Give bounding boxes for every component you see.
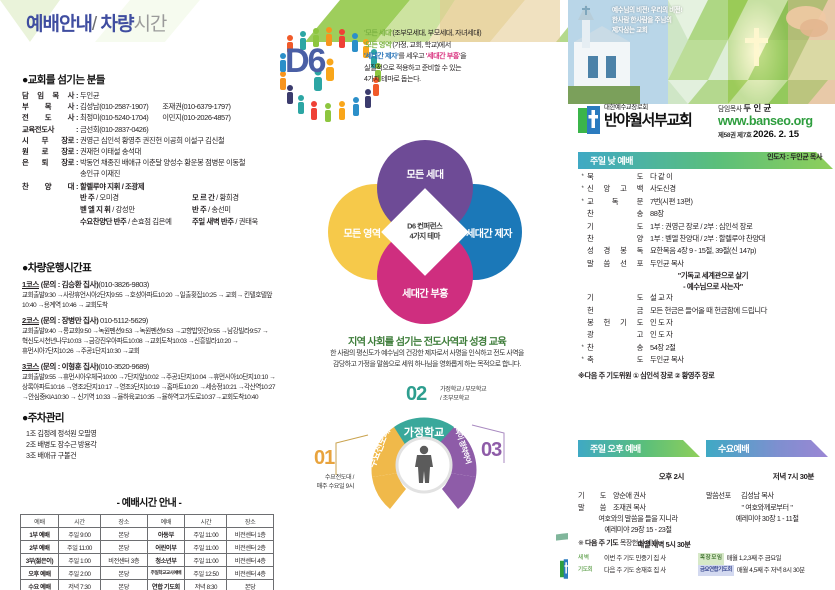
- vision-statement: 예수님의 비전! 우리의 비전! 한사람 한사람을 주님의 제자삼는 교회: [612, 6, 682, 36]
- order-label: 찬 송: [587, 342, 643, 354]
- wednesday-rows: 말씀선포김성남 목사: [706, 490, 828, 502]
- wednesday-title: 수요예배: [718, 442, 749, 455]
- staff-value-secondary: 조재권(010-6379-1797): [162, 101, 230, 112]
- choir-left: 수요찬양단 반주 / 손효점 김은예: [80, 216, 192, 228]
- order-row: 광 고인 도 자: [578, 329, 828, 341]
- table-cell: 연합 기도회: [147, 580, 185, 590]
- order-row: 봉 헌 기 도인 도 자: [578, 317, 828, 329]
- order-label: 교 독 문: [587, 196, 643, 208]
- order-row: *찬 송54장 2절: [578, 342, 828, 354]
- order-mark: [578, 305, 587, 317]
- sunday-afternoon-rows: 기 도양순애 권사말 씀조재권 목사: [578, 490, 698, 513]
- staff-value: 두인균: [80, 90, 277, 101]
- left-column: ●교회를 섬기는 분들 담 임 목 사:두인균부 목 사:김성남(010-258…: [0, 42, 278, 590]
- order-row: 헌 금모든 헌금은 들어올 때 헌금함에 드립니다: [578, 305, 828, 317]
- staff-value: 최정미(010-5240-1704)이민지(010-2026-4857): [80, 112, 277, 123]
- service-value: 김성남 목사: [734, 490, 828, 502]
- bus-block: ●차량운행시간표 1코스 (문의 : 김승환 집사)(010-3826-9803…: [22, 260, 280, 403]
- mid-headline: 지역 사회를 섬기는 전도사역과 성경 교육: [288, 333, 566, 348]
- staff-value: 권재헌 이태설 송석대: [80, 146, 277, 157]
- bus-course-head: 2코스 (문의 : 장병만 집사) 010-5112-5629): [22, 315, 280, 327]
- bus-courses: 1코스 (문의 : 김승환 집사)(010-3826-9803)교회출발9:30…: [22, 279, 280, 403]
- order-row: 성 경 봉 독요한복음 4장 9 - 15절, 39절(신 147p): [578, 245, 828, 257]
- staff-label: 부 목 사: [22, 101, 74, 112]
- issue-line: 제58권 제7호 2026. 2. 15: [718, 129, 835, 140]
- choir-row: 반 주 / 오미경모 르 간 / 황희경: [22, 192, 277, 204]
- sunday-afternoon-time: 오후 2시: [578, 471, 684, 482]
- bus-course-head: 3코스 (문의 : 이형훈 집사)(010-3520-9689): [22, 361, 280, 373]
- pastor-line: 담임목사 두 인 균: [718, 102, 835, 114]
- order-mark: *: [578, 183, 587, 195]
- order-mark: [578, 329, 587, 341]
- order-value: 54장 2절: [643, 342, 828, 354]
- order-label: 신 앙 고 백: [587, 183, 643, 195]
- staff-value: 박동언 채종진 배애규 이춘달 양성수 황운봉 점병문 이동철: [80, 157, 277, 168]
- order-value: 인 도 자: [643, 317, 828, 329]
- table-cell: 저녁 8:30: [185, 580, 227, 590]
- table-cell: 저녁 7:30: [58, 580, 100, 590]
- d6-line-2: '모든 영역'(가정, 교회, 학교)에서: [364, 40, 564, 52]
- meeting-text: 매월 1,2,3째 주 금요일: [727, 554, 782, 564]
- order-value: 모든 헌금은 들어올 때 헌금함에 드립니다: [643, 305, 828, 317]
- choir-left: 벧 엘 지 휘 / 강성만: [80, 204, 192, 216]
- staff-label: 교육전도사: [22, 124, 74, 135]
- order-label: 헌 금: [587, 305, 643, 317]
- parking-heading: ●주차관리: [22, 410, 277, 425]
- bus-course-contact: (문의 : 김승환 집사): [41, 280, 99, 289]
- staff-label: 시 무 장로: [22, 135, 74, 146]
- table-row: 오후 예배주일 2:00본당주일학교교사예배주일 12:50비전센터 4층: [21, 567, 274, 580]
- wednesday-scripture-line-1: " 여호와께로부터 ": [706, 502, 828, 513]
- dawn-left-text: 이번 주 기도 민중기 집 사: [604, 554, 666, 564]
- order-label: 찬 송: [587, 208, 643, 220]
- ministry-wheel: 가정학교 수요전도대 새가족이 정착하여 01 02 03 수요전도대 / 매주…: [318, 395, 528, 520]
- sunday-afternoon-block: 오후 2시 기 도양순애 권사말 씀조재권 목사 여호와의 말씀을 들을 지니라…: [578, 467, 698, 548]
- bus-course-phone: 010-5112-5629): [98, 316, 148, 325]
- banner-title: 예배안내/ 차량시간: [26, 9, 166, 36]
- table-column-header: 예배: [21, 515, 59, 528]
- d6-logo: D6: [285, 42, 324, 81]
- table-column-header: 장소: [100, 515, 147, 528]
- order-value: 1부 : 권영근 장로 / 2부 : 심인석 장로: [643, 221, 828, 233]
- order-value: 두인균 목사: [643, 258, 828, 270]
- table-cell: 오후 예배: [21, 567, 59, 580]
- wednesday-scripture: " 여호와께로부터 " 예레미야 30장 1 - 11절: [706, 502, 828, 524]
- order-row: 찬 양1부 : 벧엘 찬양대 / 2부 : 할렐루야 찬양대: [578, 233, 828, 245]
- order-value: 다 같 이: [643, 171, 828, 183]
- order-mark: [578, 208, 587, 220]
- sunday-morning-leader: 인도자 : 두인균 목사: [578, 152, 828, 162]
- order-label: 광 고: [587, 329, 643, 341]
- d6-line-4: 실질적으로 적용하고 준비할 수 있는: [364, 63, 564, 75]
- wheel-number-01: 01: [314, 447, 334, 470]
- issue-number: 제58권 제7호: [718, 132, 752, 139]
- brand-right: 담임목사 두 인 균 www.banseo.org 제58권 제7호 2026.…: [718, 102, 835, 140]
- table-column-header: 시간: [185, 515, 227, 528]
- table-row: 2부 예배주일 11:00본당어린이부주일 11:00비전센터 2층: [21, 541, 274, 554]
- bus-course-body: 교회출발9:55 →휴먼시아우체국10:00 →7단지앞10:02 →주공1단지…: [22, 373, 280, 403]
- wednesday-scripture-line-2: 예레미야 30장 1 - 11절: [706, 513, 828, 524]
- staff-row: 담 임 목 사:두인균: [22, 90, 277, 101]
- table-cell: 비전센터 1층: [227, 528, 274, 541]
- d6-line-1: '모든 세대'(조부모세대, 부모세대, 자녀세대): [364, 28, 564, 40]
- table-cell: 비전센터 2층: [227, 541, 274, 554]
- venn-diagram: 모든 영역 세대간 제자 모든 세대 세대간 부흥 D6 컨퍼런스 4가지 테마: [300, 140, 550, 320]
- order-row: *축 도두인균 목사: [578, 354, 828, 366]
- table-cell: 수요 예배: [21, 580, 59, 590]
- order-value: 설 교 자: [643, 292, 828, 304]
- table-row: 수요 예배저녁 7:30본당연합 기도회저녁 8:30본당: [21, 580, 274, 590]
- worship-time-block: - 예배시간 안내 - 예배시간장소예배시간장소 1부 예배주일 9:00본당아…: [20, 494, 278, 590]
- worship-time-table: 예배시간장소예배시간장소 1부 예배주일 9:00본당아동부주일 11:00비전…: [20, 514, 274, 590]
- staff-row: 시 무 장로:권영근 심인석 황영주 권진헌 이공희 이설구 김신철: [22, 135, 277, 146]
- table-cell: 본당: [227, 580, 274, 590]
- table-column-header: 예배: [147, 515, 185, 528]
- brand-church-name: 반야월서부교회: [604, 112, 692, 130]
- choir-rows: 반 주 / 오미경모 르 간 / 황희경벧 엘 지 휘 / 강성만반 주 / 송…: [22, 192, 277, 228]
- order-value: 두인균 목사: [643, 354, 828, 366]
- staff-label: 원 로 장로: [22, 146, 74, 157]
- wednesday-title-bar: 수요예배: [706, 440, 828, 457]
- elder-continuation: 송인규 이재진: [22, 168, 277, 179]
- venn-label-right: 세대간 제자: [466, 225, 512, 240]
- choir-label: 찬 양 대: [22, 181, 74, 192]
- order-label: 성 경 봉 독: [587, 245, 643, 257]
- dawn-chip-label: 기도회: [578, 567, 604, 574]
- table-cell: 청소년부: [147, 554, 185, 567]
- header-photo-strip: 예수님의 비전! 우리의 비전! 한사람 한사람을 주님의 제자삼는 교회: [568, 0, 835, 104]
- sunday-morning-order: 인도자 : 두인균 목사 *묵 도다 같 이*신 앙 고 백사도신경*교 독 문…: [578, 152, 828, 381]
- dawn-row: 새 벽이번 주 기도 민중기 집 사목 장 모 임매월 1,2,3째 주 금요일: [578, 553, 828, 565]
- choir-label-row: 찬 양 대 : 할렐루야 지휘 / 조광제: [22, 181, 277, 192]
- order-label: 묵 도: [587, 171, 643, 183]
- prayer-committee-note: ※다음 주 기도위원 ① 심인석 장로 ② 황영주 장로: [578, 371, 828, 381]
- cross-book-logo-icon: [578, 106, 600, 134]
- wheel-leader-line-03: [468, 421, 508, 467]
- service-row: 말씀선포김성남 목사: [706, 490, 828, 502]
- venn-label-bottom: 세대간 부흥: [402, 285, 448, 300]
- order-label: 축 도: [587, 354, 643, 366]
- dawn-row: 기도회다음 주 기도 송재호 집 사금요연합기도회매월 4,5째 주 저녁 8시…: [578, 565, 828, 577]
- staff-row: 부 목 사:김성남(010-2587-1907)조재권(010-6379-179…: [22, 101, 277, 112]
- order-label: 찬 양: [587, 233, 643, 245]
- staff-row: 교육전도사:금선회(010-2837-0426): [22, 124, 277, 135]
- afternoon-scripture: 여호와의 말씀을 들을 지니라 예레미야 29장 15 - 23절: [578, 513, 698, 535]
- bus-course-head: 1코스 (문의 : 김승환 집사)(010-3826-9803): [22, 279, 280, 291]
- choir-row: 수요찬양단 반주 / 손효점 김은예주일 새벽 반주 / 권태욱: [22, 216, 277, 228]
- table-cell: 아동부: [147, 528, 185, 541]
- staff-block: ●교회를 섬기는 분들 담 임 목 사:두인균부 목 사:김성남(010-258…: [22, 72, 277, 228]
- wheel-caption-02-line-2: / 조부모학교: [440, 394, 520, 403]
- order-label: 말 씀 선 포: [587, 258, 643, 270]
- table-cell: 주일 1:00: [58, 554, 100, 567]
- service-value: 양순애 권사: [606, 490, 698, 502]
- sunday-afternoon-title-bar: 주일 오후 예배: [578, 440, 700, 457]
- staff-heading: ●교회를 섬기는 분들: [22, 72, 277, 87]
- staff-row: 은 퇴 장로:박동언 채종진 배애규 이춘달 양성수 황운봉 점병문 이동철: [22, 157, 277, 168]
- table-row: 3부(젊은이)주일 1:00비전센터 3층청소년부주일 11:00비전센터 4층: [21, 554, 274, 567]
- table-cell: 2부 예배: [21, 541, 59, 554]
- table-cell: 비전센터 3층: [100, 554, 147, 567]
- sunday-morning-rows-2: 기 도설 교 자헌 금모든 헌금은 들어올 때 헌금함에 드립니다봉 헌 기 도…: [578, 292, 828, 366]
- service-label: 기 도: [578, 490, 606, 502]
- order-mark: [578, 245, 587, 257]
- choir-right: 주일 새벽 반주 / 권태욱: [192, 216, 258, 228]
- meeting-chip: 금요연합기도회: [698, 565, 734, 577]
- table-column-header: 장소: [227, 515, 274, 528]
- sunday-morning-rows: *묵 도다 같 이*신 앙 고 백사도신경*교 독 문7번(시편 13편)찬 송…: [578, 171, 828, 270]
- order-value: 7번(시편 13편): [643, 196, 828, 208]
- table-cell: 본당: [100, 528, 147, 541]
- order-mark: [578, 317, 587, 329]
- brand-name: 대한예수교장로회 반야월서부교회: [604, 104, 692, 130]
- order-row: 찬 송88장: [578, 208, 828, 220]
- dawn-left: 새 벽이번 주 기도 민중기 집 사: [578, 554, 698, 564]
- dawn-left-text: 다음 주 기도 송재호 집 사: [604, 566, 666, 576]
- service-row: 말 씀조재권 목사: [578, 502, 698, 514]
- bus-course-body: 교회출발9:40 →룡교회9:50 →녹원펜션9:53 →녹원펜션9:53 →고…: [22, 327, 280, 357]
- banner-title-part-4: 시간: [133, 14, 166, 35]
- bus-course-phone: (010-3520-9689): [98, 362, 149, 371]
- website-url[interactable]: www.banseo.org: [718, 114, 835, 129]
- vision-line-3: 제자삼는 교회: [612, 26, 682, 36]
- sermon-title: "기독교 세계관으로 살기 - 예수님으로 사는자": [578, 270, 828, 292]
- table-cell: 주일 9:00: [58, 528, 100, 541]
- service-label: 말씀선포: [706, 490, 734, 502]
- table-cell: 본당: [100, 541, 147, 554]
- order-mark: *: [578, 196, 587, 208]
- afternoon-scripture-line-1: 여호와의 말씀을 들을 지니라: [578, 513, 698, 524]
- staff-value: 김성남(010-2587-1907)조재권(010-6379-1797): [80, 101, 277, 112]
- wednesday-time: 저녁 7시 30분: [706, 471, 814, 482]
- order-row: 기 도1부 : 권영근 장로 / 2부 : 심인석 장로: [578, 221, 828, 233]
- venn-center-line-2: 4가지 테마: [407, 232, 442, 242]
- choir-first: 할렐루야 지휘 / 조광제: [80, 181, 277, 192]
- dawn-right: 금요연합기도회매월 4,5째 주 저녁 8시 30분: [698, 565, 828, 577]
- choir-row: 벧 엘 지 휘 / 강성만반 주 / 송선미: [22, 204, 277, 216]
- table-body: 1부 예배주일 9:00본당아동부주일 11:00비전센터 1층2부 예배주일 …: [21, 528, 274, 590]
- order-mark: *: [578, 342, 587, 354]
- table-cell: 3부(젊은이): [21, 554, 59, 567]
- service-row: 기 도양순애 권사: [578, 490, 698, 502]
- sunday-afternoon-title: 주일 오후 예배: [590, 442, 641, 455]
- worship-time-title: - 예배시간 안내 -: [20, 494, 278, 509]
- parking-row: 2조 배병도 장수근 방용각: [22, 439, 277, 450]
- order-mark: [578, 258, 587, 270]
- choir-left: 반 주 / 오미경: [80, 192, 192, 204]
- venn-label-top: 모든 세대: [406, 166, 443, 181]
- bus-course-contact: (문의 : 장병만 집사): [41, 316, 99, 325]
- pastor-label: 담임목사: [718, 106, 742, 113]
- brand-row: 대한예수교장로회 반야월서부교회 담임목사 두 인 균 www.banseo.o…: [578, 104, 833, 146]
- venn-label-left: 모든 영역: [343, 225, 380, 240]
- order-value: 사도신경: [643, 183, 828, 195]
- center-column: D6 '모든 세대'(조부모세대, 부모세대, 자녀세대) '모든 영역'(가정…: [278, 0, 568, 590]
- mid-subtext: 한 사람의 평신도가 예수님의 건강한 제자로서 사명을 인식하고 전도 사역을…: [284, 349, 570, 370]
- order-mark: *: [578, 354, 587, 366]
- table-cell: 주일 12:50: [185, 567, 227, 580]
- mid-subtext-line-2: 감당하고 가정을 말씀으로 세워 하나님을 영화롭게 하는 목적으로 합니다.: [284, 360, 570, 371]
- wednesday-bar-notch: [811, 440, 828, 457]
- order-row: 말 씀 선 포두인균 목사: [578, 258, 828, 270]
- order-row: *교 독 문7번(시편 13편): [578, 196, 828, 208]
- banner-title-part-1: 예배안내: [26, 14, 92, 35]
- wednesday-block: 저녁 7시 30분 말씀선포김성남 목사 " 여호와께로부터 " 예레미야 30…: [706, 467, 828, 524]
- order-label: 봉 헌 기 도: [587, 317, 643, 329]
- d6-line-3: '세대간 제자'를 세우고 '세대간 부흥'을: [364, 51, 564, 63]
- afternoon-scripture-line-2: 예레미야 29장 15 - 23절: [578, 524, 698, 535]
- wheel-leader-line-01: [334, 429, 374, 479]
- parking-block: ●주차관리 1조 김정례 정석원 오필영2조 배병도 장수근 방용각3조 배애규…: [22, 410, 277, 461]
- banner-title-part-3: 차량: [100, 14, 133, 35]
- order-label: 기 도: [587, 292, 643, 304]
- afternoon-bar-notch: [683, 440, 700, 457]
- order-mark: [578, 233, 587, 245]
- d6-line-5: 4가지 테마로 돕는다.: [364, 74, 564, 86]
- wheel-caption-02: 가정학교 / 부모학교 / 조부모학교: [440, 385, 520, 403]
- staff-rows: 담 임 목 사:두인균부 목 사:김성남(010-2587-1907)조재권(0…: [22, 90, 277, 168]
- mid-subtext-line-1: 한 사람의 평신도가 예수님의 건강한 제자로서 사명을 인식하고 전도 사역을: [284, 349, 570, 360]
- bus-course-contact: (문의 : 이형훈 집사): [41, 362, 99, 371]
- parking-row: 1조 김정례 정석원 오필영: [22, 428, 277, 439]
- wheel-caption-02-line-1: 가정학교 / 부모학교: [440, 385, 520, 394]
- table-cell: 비전센터 4층: [227, 554, 274, 567]
- table-cell: 어린이부: [147, 541, 185, 554]
- wheel-number-02: 02: [406, 383, 426, 406]
- issue-date: 2026. 2. 15: [753, 129, 799, 140]
- staff-value: 금선회(010-2837-0426): [80, 124, 277, 135]
- table-row: 1부 예배주일 9:00본당아동부주일 11:00비전센터 1층: [21, 528, 274, 541]
- meeting-chip: 목 장 모 임: [698, 553, 724, 565]
- parking-row: 3조 배애규 구볼건: [22, 450, 277, 461]
- staff-value-secondary: 이민지(010-2026-4857): [162, 112, 230, 123]
- dawn-prayer-block: 매일 새벽 5시 30분 새 벽이번 주 기도 민중기 집 사목 장 모 임매월…: [578, 540, 828, 576]
- order-mark: [578, 221, 587, 233]
- choir-right: 반 주 / 송선미: [192, 204, 231, 216]
- service-label: 말 씀: [578, 502, 606, 514]
- staff-value: 권영근 심인석 황영주 권진헌 이공희 이설구 김신철: [80, 135, 277, 146]
- table-header-row: 예배시간장소예배시간장소: [21, 515, 274, 528]
- header-photo-mosaic: [568, 0, 835, 104]
- table-cell: 본당: [100, 580, 147, 590]
- order-value: 인 도 자: [643, 329, 828, 341]
- table-cell: 주일 11:00: [58, 541, 100, 554]
- sermon-title-line-1: "기독교 세계관으로 살기: [598, 270, 828, 281]
- dawn-prayer-rows: 새 벽이번 주 기도 민중기 집 사목 장 모 임매월 1,2,3째 주 금요일…: [578, 553, 828, 576]
- order-mark: [578, 292, 587, 304]
- vision-line-1: 예수님의 비전! 우리의 비전!: [612, 6, 682, 16]
- staff-row: 원 로 장로:권재헌 이태설 송석대: [22, 146, 277, 157]
- brand-denomination: 대한예수교장로회: [604, 104, 692, 112]
- table-cell: 주일학교교사예배: [147, 567, 185, 580]
- sermon-title-line-2: - 예수님으로 사는자": [598, 281, 828, 292]
- dawn-chip-label: 새 벽: [578, 555, 604, 562]
- table-cell: 비전센터 4층: [227, 567, 274, 580]
- meeting-text: 매월 4,5째 주 저녁 8시 30분: [737, 566, 805, 576]
- staff-label: 전 도 사: [22, 112, 74, 123]
- table-cell: 주일 11:00: [185, 554, 227, 567]
- dawn-prayer-title: 매일 새벽 5시 30분: [578, 540, 828, 550]
- dawn-left: 기도회다음 주 기도 송재호 집 사: [578, 566, 698, 576]
- choir-right: 모 르 간 / 황희경: [192, 192, 239, 204]
- bulletin-page: 예배안내/ 차량시간 ●교회를 섬기는 분들 담 임 목 사:두인균부 목 사:…: [0, 0, 835, 590]
- bus-course-body: 교회출발9:30 →사랑휴언시아2단지9:55 →호성아파트10:20 →일출횟…: [22, 291, 280, 311]
- dawn-right: 목 장 모 임매월 1,2,3째 주 금요일: [698, 553, 828, 565]
- bus-heading: ●차량운행시간표: [22, 260, 280, 275]
- svg-text:가정학교: 가정학교: [404, 425, 444, 439]
- pastor-name: 두 인 균: [743, 103, 771, 113]
- order-label: 기 도: [587, 221, 643, 233]
- order-row: *신 앙 고 백사도신경: [578, 183, 828, 195]
- order-value: 요한복음 4장 9 - 15절, 39절(신 147p): [643, 245, 828, 257]
- table-cell: 주일 11:00: [185, 541, 227, 554]
- vision-line-2: 한사람 한사람을 주님의: [612, 16, 682, 26]
- table-cell: 1부 예배: [21, 528, 59, 541]
- table-cell: 주일 2:00: [58, 567, 100, 580]
- d6-description: '모든 세대'(조부모세대, 부모세대, 자녀세대) '모든 영역'(가정, 교…: [364, 28, 564, 86]
- order-mark: *: [578, 171, 587, 183]
- bus-course-number: 2코스: [22, 316, 39, 325]
- parking-rows: 1조 김정례 정석원 오필영2조 배병도 장수근 방용각3조 배애규 구볼건: [22, 428, 277, 461]
- order-value: 1부 : 벧엘 찬양대 / 2부 : 할렐루야 찬양대: [643, 233, 828, 245]
- table-column-header: 시간: [58, 515, 100, 528]
- venn-center-text: D6 컨퍼런스 4가지 테마: [407, 222, 442, 242]
- order-row: 기 도설 교 자: [578, 292, 828, 304]
- bus-course-phone: (010-3826-9803): [98, 280, 149, 289]
- wheel-caption-01-line-2: 매주 수요일 9시: [280, 482, 354, 491]
- bus-course-number: 3코스: [22, 362, 39, 371]
- staff-row: 전 도 사:최정미(010-5240-1704)이민지(010-2026-485…: [22, 112, 277, 123]
- venn-center-line-1: D6 컨퍼런스: [407, 222, 442, 232]
- service-value: 조재권 목사: [606, 502, 698, 514]
- bus-course-number: 1코스: [22, 280, 39, 289]
- order-value: 88장: [643, 208, 828, 220]
- staff-label: 담 임 목 사: [22, 90, 74, 101]
- staff-label: 은 퇴 장로: [22, 157, 74, 168]
- order-row: *묵 도다 같 이: [578, 171, 828, 183]
- table-cell: 본당: [100, 567, 147, 580]
- table-cell: 주일 11:00: [185, 528, 227, 541]
